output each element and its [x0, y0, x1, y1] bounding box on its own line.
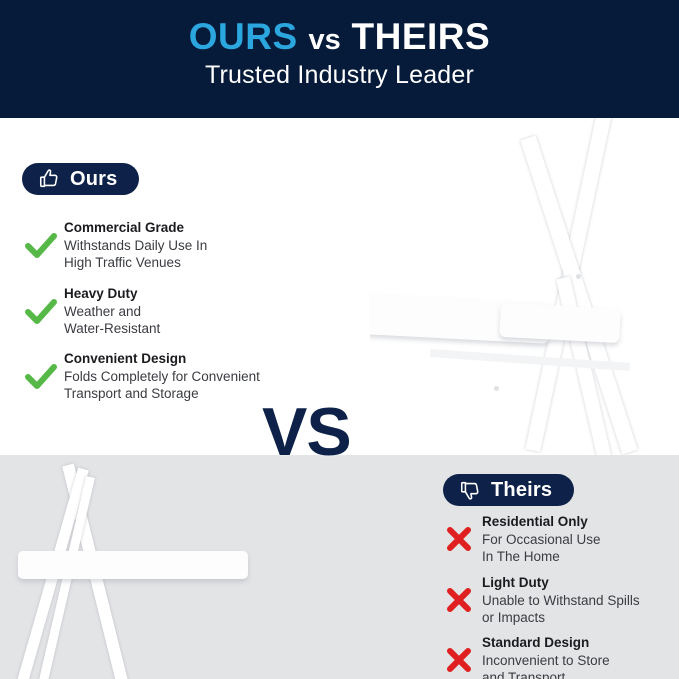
check-icon [18, 226, 64, 266]
feature-title: Commercial Grade [64, 220, 184, 235]
list-item: Heavy Duty Weather and Water-Resistant [18, 284, 318, 338]
cross-icon [436, 522, 482, 556]
title-vs: vs [308, 24, 340, 56]
feature-title: Standard Design [482, 635, 589, 650]
feature-description: Weather and Water-Resistant [64, 303, 318, 338]
feature-description: Unable to Withstand Spills or Impacts [482, 592, 679, 627]
thumbs-up-icon [38, 168, 60, 190]
feature-title: Light Duty [482, 575, 549, 590]
title-theirs: THEIRS [352, 16, 491, 57]
cross-icon [436, 643, 482, 677]
list-item: Convenient Design Folds Completely for C… [18, 349, 318, 403]
list-item: Standard Design Inconvenient to Store an… [436, 633, 679, 679]
check-icon [18, 357, 64, 397]
title-ours: OURS [189, 16, 298, 57]
feature-description: For Occasional Use In The Home [482, 531, 679, 566]
feature-description: Inconvenient to Store and Transport [482, 652, 679, 679]
list-item: Light Duty Unable to Withstand Spills or… [436, 573, 679, 627]
check-icon [18, 292, 64, 332]
theirs-badge: Theirs [443, 474, 574, 506]
ours-badge: Ours [22, 163, 139, 195]
cross-icon [436, 583, 482, 617]
list-item: Commercial Grade Withstands Daily Use In… [18, 218, 318, 272]
feature-title: Residential Only [482, 514, 588, 529]
feature-description: Withstands Daily Use In High Traffic Ven… [64, 237, 318, 272]
comparison-infographic: OURS vs THEIRS Trusted Industry Leader V… [0, 0, 679, 679]
page-title: OURS vs THEIRS [0, 18, 679, 57]
feature-description: Folds Completely for Convenient Transpor… [64, 368, 318, 403]
header-banner: OURS vs THEIRS Trusted Industry Leader [0, 0, 679, 118]
theirs-feature-list: Residential Only For Occasional Use In T… [436, 512, 679, 679]
ours-feature-list: Commercial Grade Withstands Daily Use In… [18, 218, 318, 415]
ours-badge-label: Ours [70, 168, 117, 191]
page-subtitle: Trusted Industry Leader [0, 61, 679, 90]
feature-title: Convenient Design [64, 351, 186, 366]
theirs-badge-label: Theirs [491, 479, 552, 502]
list-item: Residential Only For Occasional Use In T… [436, 512, 679, 566]
thumbs-down-icon [459, 479, 481, 501]
feature-title: Heavy Duty [64, 286, 138, 301]
